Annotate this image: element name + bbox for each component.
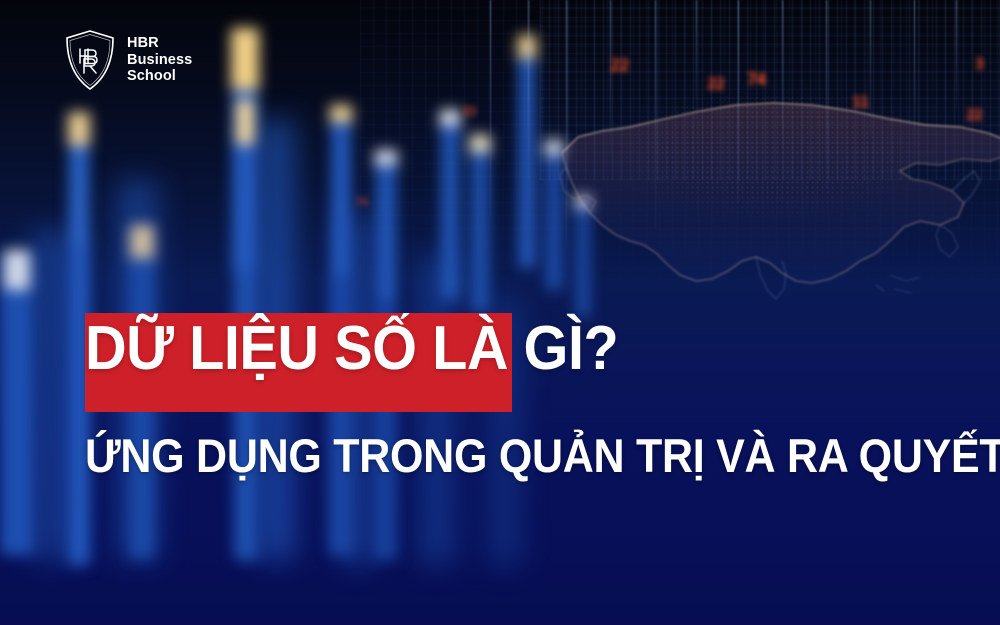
ticker-number: 22 [610,56,628,76]
ticker-number: 74 [747,70,765,90]
world-map-dot-texture [560,75,1000,310]
logo-line-3: School [127,68,192,85]
hbr-shield-icon [64,29,116,91]
ticker-number: 22 [707,74,724,93]
logo-line-2: Business [127,52,192,69]
poster-canvas: 22 22 74 11 3 22 33 74 [0,0,1000,625]
ticker-number: 22 [966,106,982,124]
ticker-number: 33 [462,105,476,120]
hbr-logo-text: HBR Business School [127,35,192,86]
page-title: DỮ LIỆU SỐ LÀ GÌ? [85,318,606,380]
hbr-logo[interactable]: HBR Business School [64,29,192,91]
logo-line-1: HBR [127,35,192,52]
ticker-number: 3 [975,55,983,73]
ticker-number: 74 [355,195,367,209]
ticker-number: 11 [852,93,868,111]
page-subtitle: ỨNG DỤNG TRONG QUẢN TRỊ VÀ RA QUYẾT ĐỊNH [85,432,936,479]
